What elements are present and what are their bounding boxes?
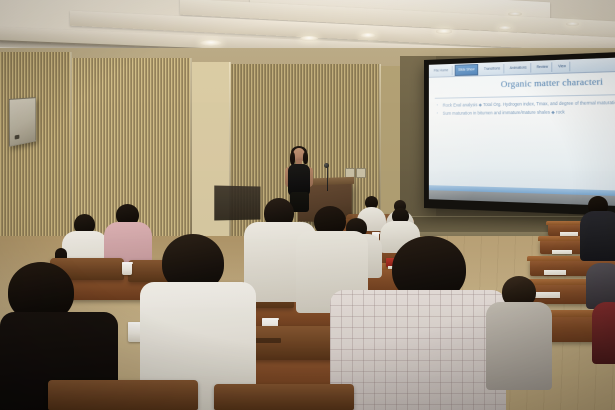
slide-bullet-list: Rock Eval analysis ◆ Total Org. Hydrogen… [437, 100, 615, 120]
person-body [592, 302, 615, 364]
downlight-icon [508, 12, 522, 16]
presenter-hair-side-right [303, 152, 308, 164]
seatback-foreground [214, 384, 354, 410]
wall-outlet-plate [356, 168, 366, 178]
downlight-icon [300, 36, 318, 41]
notepaper [552, 250, 572, 254]
slide-title: Organic matter characteri [501, 76, 603, 89]
ribbon-tab-view[interactable]: View [555, 61, 571, 71]
audience-member-right [586, 250, 615, 308]
slide-bullet: Sum maturation in bitumen and immature/m… [437, 109, 615, 117]
audience-member-right [580, 196, 615, 258]
microphone-stand [327, 167, 328, 191]
downlight-icon [360, 33, 376, 38]
ribbon-tab-animations[interactable]: Animations [506, 63, 531, 73]
downlight-icon [566, 22, 579, 26]
projection-screen: File Home Slide Show Transitions Animati… [424, 52, 615, 217]
notepaper [560, 232, 578, 236]
ribbon-tab-transitions[interactable]: Transitions [481, 64, 505, 74]
microphone-icon [324, 163, 329, 168]
slide-surface: File Home Slide Show Transitions Animati… [429, 57, 615, 206]
person-body [486, 302, 552, 390]
audience-member [486, 276, 550, 386]
downlight-icon [498, 26, 512, 30]
ribbon-tab-slide-show[interactable]: Slide Show [454, 63, 478, 75]
lecture-hall-photo: File Home Slide Show Transitions Animati… [0, 0, 615, 410]
wall-speaker-icon [9, 97, 36, 147]
ribbon-tab-file-home[interactable]: File Home [431, 65, 452, 75]
seatback-foreground [48, 380, 198, 410]
downlight-icon [436, 29, 452, 34]
slide-title-rule [435, 94, 615, 99]
ribbon-tab-review[interactable]: Review [533, 62, 552, 72]
powerpoint-ribbon: File Home Slide Show Transitions Animati… [429, 57, 615, 78]
slide-bullet: Rock Eval analysis ◆ Total Org. Hydrogen… [437, 100, 615, 109]
downlight-icon [200, 40, 222, 46]
notepaper [544, 270, 566, 275]
audience-member-right [592, 302, 615, 362]
audience-member-foreground-checkered [330, 236, 500, 410]
paper-cup [122, 262, 132, 275]
person-body-checkered-shirt [330, 290, 506, 410]
